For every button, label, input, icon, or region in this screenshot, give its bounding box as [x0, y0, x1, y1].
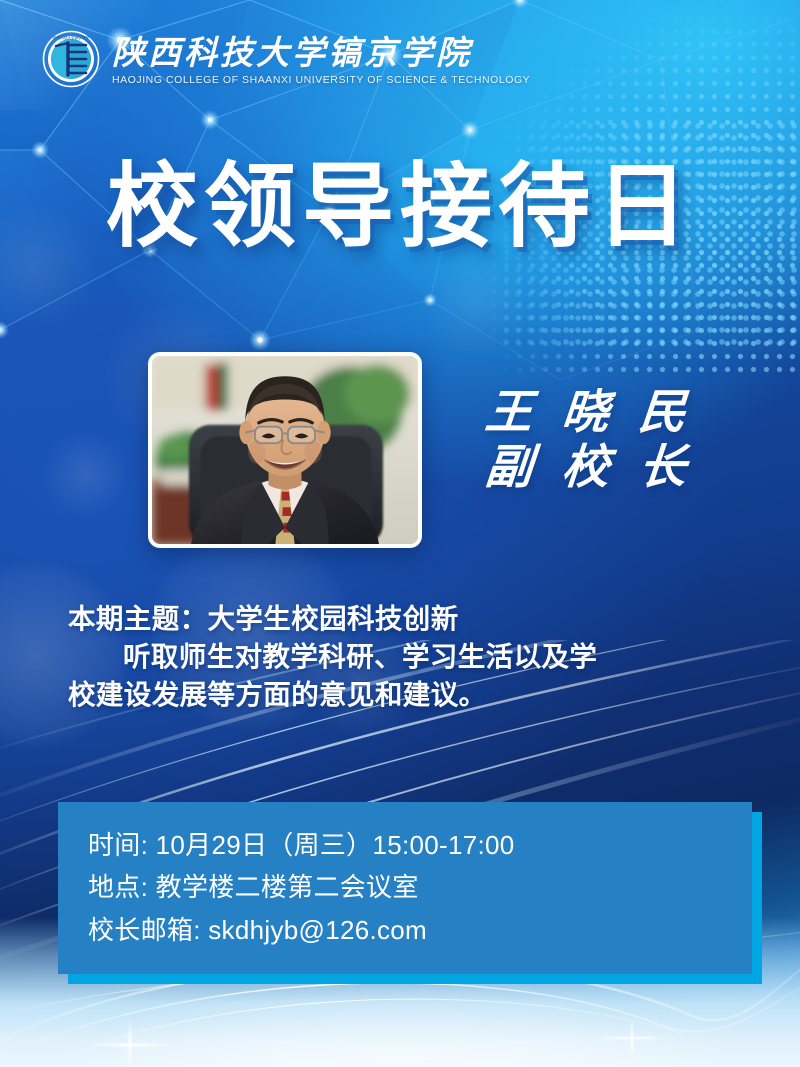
university-crest-icon: 陕西科技大学镐京学院 — [42, 30, 100, 88]
info-box: 时间: 10月29日（周三）15:00-17:00 地点: 教学楼二楼第二会议室… — [58, 802, 752, 974]
speaker-info: 王 晓 民 副 校 长 — [470, 386, 710, 497]
portrait-photo — [148, 352, 422, 548]
svg-text:陕西科技大学镐京学院: 陕西科技大学镐京学院 — [112, 35, 474, 72]
speaker-position: 副 校 长 — [468, 441, 713, 496]
info-place: 地点: 教学楼二楼第二会议室 — [88, 866, 752, 908]
body-copy: 本期主题：大学生校园科技创新 听取师生对教学科研、学习生活以及学 校建设发展等方… — [68, 600, 694, 714]
svg-text:陕西科技大学镐京学院: 陕西科技大学镐京学院 — [53, 35, 89, 40]
topic-line: 本期主题：大学生校园科技创新 — [68, 600, 694, 638]
university-name-cn: 陕西科技大学镐京学院 — [112, 33, 486, 73]
brand-header: 陕西科技大学镐京学院 陕西科技大学镐京学院 HAOJING COLLEGE OF… — [42, 30, 530, 88]
poster-canvas: 陕西科技大学镐京学院 陕西科技大学镐京学院 HAOJING COLLEGE OF… — [0, 0, 800, 1067]
speaker-name: 王 晓 民 — [468, 386, 713, 441]
info-email[interactable]: 校长邮箱: skdhjyb@126.com — [88, 909, 752, 951]
description-line-1: 听取师生对教学科研、学习生活以及学 — [68, 638, 694, 676]
poster-title: 校领导接待日 — [0, 161, 800, 253]
university-name-en: HAOJING COLLEGE OF SHAANXI UNIVERSITY OF… — [112, 74, 530, 86]
info-time: 时间: 10月29日（周三）15:00-17:00 — [88, 824, 752, 866]
description-line-2: 校建设发展等方面的意见和建议。 — [68, 676, 694, 714]
